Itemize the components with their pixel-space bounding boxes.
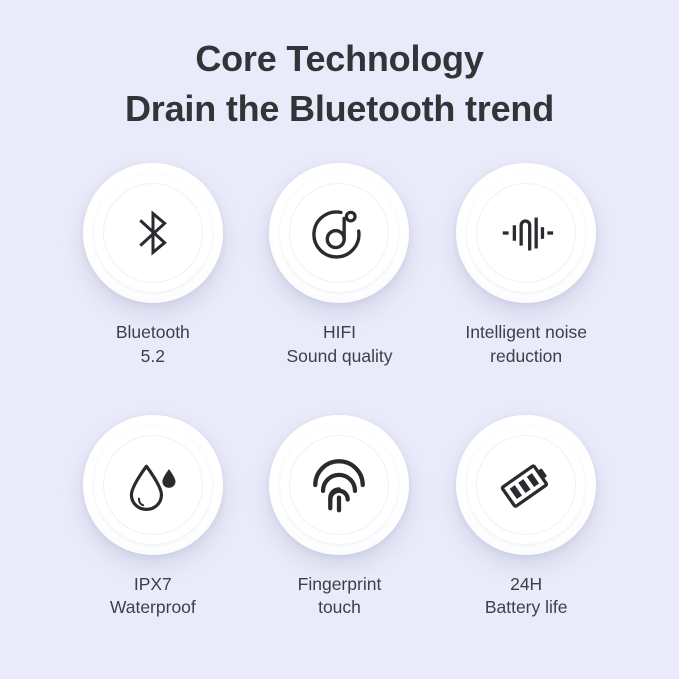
feature-item-noise-reduction: Intelligent noise reduction [433,163,619,369]
feature-icon-badge-fingerprint [269,415,409,555]
water-drop-icon [123,455,183,515]
feature-label-line-2: Battery life [485,596,568,620]
feature-label-line-2: 5.2 [116,345,190,369]
feature-label-waterproof: IPX7 Waterproof [110,573,196,621]
feature-item-fingerprint: Fingerprint touch [246,415,432,621]
bluetooth-icon [122,202,184,264]
feature-label-line-1: Intelligent noise [465,321,587,345]
feature-label-line-2: reduction [465,345,587,369]
feature-label-line-1: HIFI [286,321,392,345]
battery-icon [495,454,557,516]
feature-label-battery: 24H Battery life [485,573,568,621]
feature-label-line-1: 24H [485,573,568,597]
page-title: Core Technology Drain the Bluetooth tren… [125,38,554,131]
feature-label-line-1: Fingerprint [298,573,382,597]
feature-item-bluetooth: Bluetooth 5.2 [60,163,246,369]
feature-label-line-1: IPX7 [110,573,196,597]
feature-item-battery: 24H Battery life [433,415,619,621]
feature-label-bluetooth: Bluetooth 5.2 [116,321,190,369]
feature-label-line-1: Bluetooth [116,321,190,345]
feature-item-hifi: HIFI Sound quality [246,163,432,369]
feature-item-waterproof: IPX7 Waterproof [60,415,246,621]
feature-icon-badge-battery [456,415,596,555]
feature-icon-badge-noise-reduction [456,163,596,303]
feature-label-line-2: touch [298,596,382,620]
feature-label-noise-reduction: Intelligent noise reduction [465,321,587,369]
feature-icon-badge-waterproof [83,415,223,555]
feature-icon-badge-hifi [269,163,409,303]
page-title-line-2: Drain the Bluetooth trend [125,88,554,130]
hifi-music-note-icon [309,203,369,263]
fingerprint-icon [308,454,370,516]
feature-label-fingerprint: Fingerprint touch [298,573,382,621]
noise-reduction-waveform-icon [495,202,557,264]
page-title-line-1: Core Technology [125,38,554,80]
feature-label-line-2: Sound quality [286,345,392,369]
feature-label-hifi: HIFI Sound quality [286,321,392,369]
feature-label-line-2: Waterproof [110,596,196,620]
feature-icon-badge-bluetooth [83,163,223,303]
feature-highlight-page: Core Technology Drain the Bluetooth tren… [0,0,679,679]
feature-grid: Bluetooth 5.2 HIFI Sound quality [60,163,620,620]
